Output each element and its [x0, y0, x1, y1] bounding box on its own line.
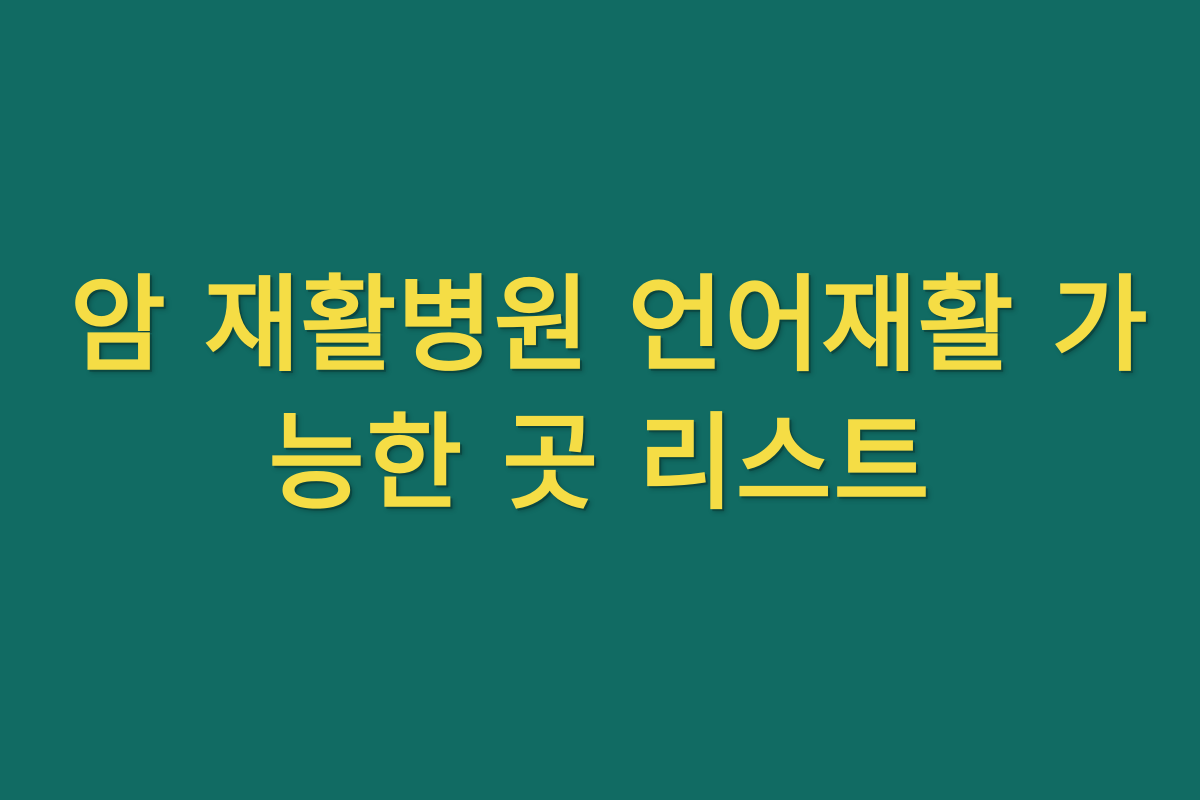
banner-title-block: 암 재활병원 언어재활 가 능한 곳 리스트 — [70, 256, 1130, 532]
banner-title-line-2: 능한 곳 리스트 — [70, 394, 1130, 532]
title-banner: 암 재활병원 언어재활 가 능한 곳 리스트 — [0, 0, 1200, 800]
banner-title-line-1: 암 재활병원 언어재활 가 — [70, 256, 1130, 394]
